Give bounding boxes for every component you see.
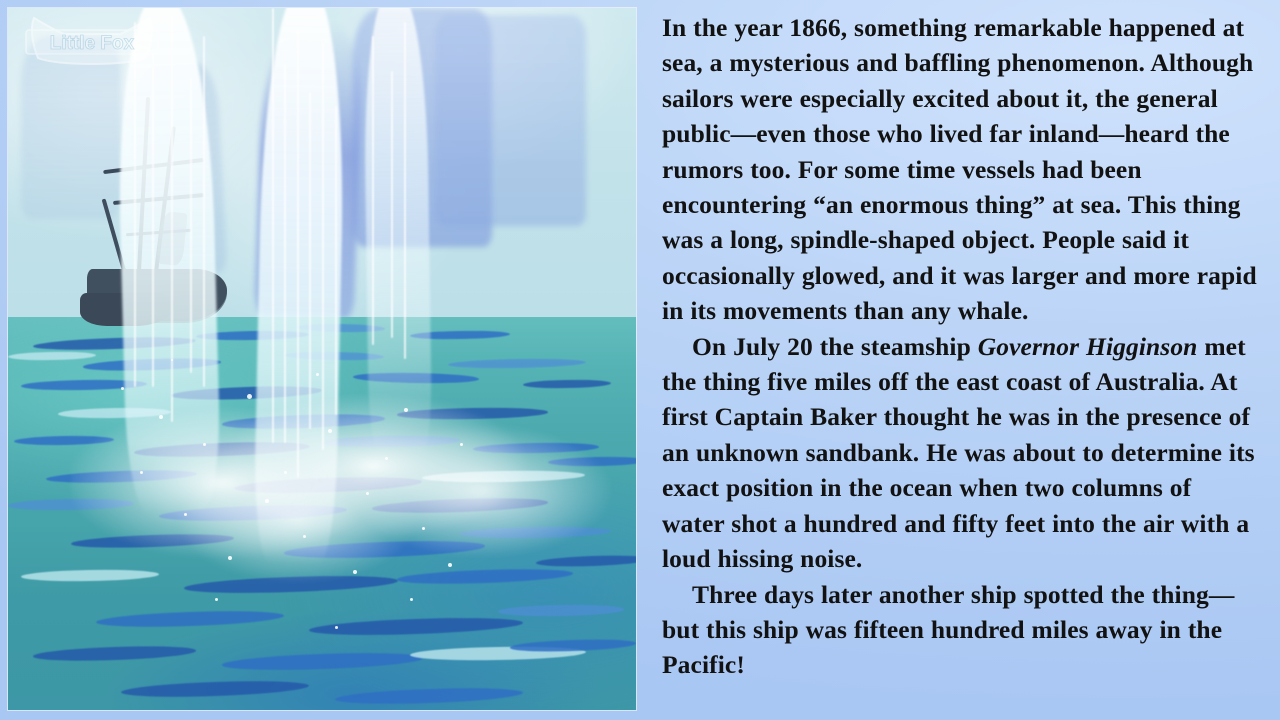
spray-droplet: [448, 563, 452, 567]
water-streak: [372, 36, 374, 345]
spray-droplet: [203, 443, 206, 446]
spray-droplet: [247, 394, 252, 399]
distant-shape-c: [435, 15, 586, 226]
spray-droplet: [316, 373, 319, 376]
ship-name-italic: Governor Higginson: [978, 332, 1198, 361]
story-text-panel: In the year 1866, something remarkable h…: [652, 0, 1272, 720]
spray-droplet: [215, 598, 218, 601]
story-text-run: In the year 1866, something remarkable h…: [662, 13, 1257, 325]
story-paragraph: On July 20 the steamship Governor Higgin…: [662, 329, 1260, 577]
story-body: In the year 1866, something remarkable h…: [662, 10, 1260, 683]
story-paragraph: In the year 1866, something remarkable h…: [662, 10, 1260, 329]
spray-droplet: [404, 408, 408, 412]
spray-droplet: [303, 535, 306, 538]
water-streak: [335, 106, 337, 415]
spray-droplet: [228, 556, 232, 560]
little-fox-wordmark: Little Fox: [26, 30, 158, 54]
illustration-canvas: Little Fox: [8, 8, 636, 710]
water-streak: [404, 22, 406, 359]
story-text-run: met the thing five miles off the east co…: [662, 332, 1255, 573]
water-streak: [134, 22, 136, 387]
story-text-run: Three days later another ship spotted th…: [662, 580, 1234, 680]
story-paragraph: Three days later another ship spotted th…: [662, 577, 1260, 683]
water-streak: [203, 36, 205, 387]
story-text-run: On July 20 the steamship: [692, 332, 978, 361]
ebook-page: Little Fox In the year 1866, something r…: [0, 0, 1280, 720]
spray-droplet: [410, 598, 413, 601]
water-streak: [391, 71, 393, 338]
little-fox-logo: Little Fox: [16, 14, 168, 66]
spray-droplet: [159, 415, 163, 419]
water-streak: [190, 78, 192, 373]
water-streak: [171, 15, 173, 422]
logo-text: Little Fox: [50, 33, 135, 54]
spray-droplet: [335, 626, 338, 629]
foam-splash: [71, 373, 611, 584]
illustration-panel: Little Fox: [0, 0, 640, 720]
